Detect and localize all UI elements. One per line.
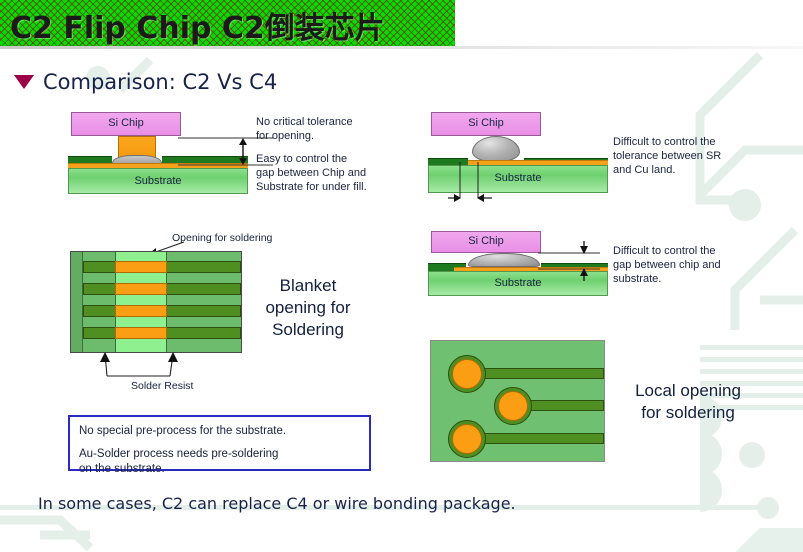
- trace-row: [483, 433, 604, 444]
- c4-note-top-line-1: Difficult to control the: [613, 136, 716, 148]
- solder-pad: [115, 305, 167, 317]
- si-chip-label: Si Chip: [431, 235, 541, 247]
- c2-note-line-1: No critical tolerance: [256, 116, 353, 128]
- substrate-label: Substrate: [68, 175, 248, 187]
- triangle-down-icon: [14, 75, 34, 89]
- solder-pad: [115, 327, 167, 339]
- callout-line-3: on the substrate.: [79, 462, 360, 477]
- blanket-opening-label-line-1: Blanket: [248, 275, 368, 297]
- blanket-opening-label-line-3: Soldering: [248, 319, 368, 341]
- local-pad-opening: [452, 424, 482, 454]
- callout-box: No special pre-process for the substrate…: [68, 415, 371, 471]
- section-heading: Comparison: C2 Vs C4: [14, 70, 277, 94]
- solder-pad: [115, 261, 167, 273]
- c2-note-line-2: for opening.: [256, 130, 314, 142]
- trace-row: [483, 368, 604, 379]
- bottom-sentence: In some cases, C2 can replace C4 or wire…: [38, 494, 516, 513]
- c4-note-top-line-3: and Cu land.: [613, 164, 675, 176]
- page-title: C2 Flip Chip C2倒装芯片: [10, 3, 385, 47]
- substrate-label: Substrate: [428, 172, 608, 184]
- blanket-opening-diagram: [70, 251, 242, 353]
- c2-note-line-3: Easy to control the: [256, 153, 347, 165]
- c2-note-line-4: gap between Chip and: [256, 167, 366, 179]
- banner-underline: [0, 46, 803, 49]
- local-opening-label: Local opening for soldering: [613, 380, 763, 424]
- opening-for-soldering-callout-label: Opening for soldering: [172, 232, 272, 244]
- c2-cross-section-diagram: Si Chip Substrate: [68, 112, 248, 194]
- solder-resist-callout-arrows: [95, 352, 235, 380]
- local-opening-diagram: [430, 340, 605, 462]
- substrate-edge-band: [71, 252, 83, 352]
- section-heading-label: Comparison: C2 Vs C4: [43, 70, 277, 94]
- local-opening-label-line-1: Local opening: [613, 380, 763, 402]
- solder-pad: [115, 283, 167, 295]
- c4-cross-section-top-diagram: Si Chip Substrate: [428, 112, 608, 207]
- local-opening-label-line-2: for soldering: [613, 402, 763, 424]
- si-chip-label: Si Chip: [431, 117, 541, 129]
- solder-resist-callout-label: Solder Resist: [131, 380, 193, 392]
- c4-cross-section-bottom-diagram: Si Chip Substrate: [428, 231, 608, 296]
- callout-line-2: Au-Solder process needs pre-soldering: [79, 447, 360, 462]
- c2-note: No critical tolerance for opening. Easy …: [256, 115, 386, 194]
- slide-canvas: C2 Flip Chip C2倒装芯片 Comparison: C2 Vs C4…: [0, 0, 803, 552]
- trace-row: [529, 400, 604, 411]
- c4-note-bottom-line-2: gap between chip and: [613, 259, 721, 271]
- blanket-opening-label: Blanket opening for Soldering: [248, 275, 368, 341]
- solder-ball: [472, 136, 520, 162]
- c4-note-top: Difficult to control the tolerance betwe…: [613, 135, 758, 177]
- substrate-label: Substrate: [428, 277, 608, 289]
- collapsed-solder-joint: [468, 253, 540, 267]
- blanket-opening-label-line-2: opening for: [248, 297, 368, 319]
- c4-note-bottom: Difficult to control the gap between chi…: [613, 244, 758, 286]
- c2-note-line-5: Substrate for under fill.: [256, 181, 367, 193]
- c4-note-top-line-2: tolerance between SR: [613, 150, 721, 162]
- c4-note-bottom-line-3: substrate.: [613, 273, 661, 285]
- si-chip-label: Si Chip: [71, 117, 181, 129]
- local-pad-opening: [498, 391, 528, 421]
- callout-line-1: No special pre-process for the substrate…: [79, 424, 360, 439]
- c4-note-bottom-line-1: Difficult to control the: [613, 245, 716, 257]
- local-pad-opening: [452, 359, 482, 389]
